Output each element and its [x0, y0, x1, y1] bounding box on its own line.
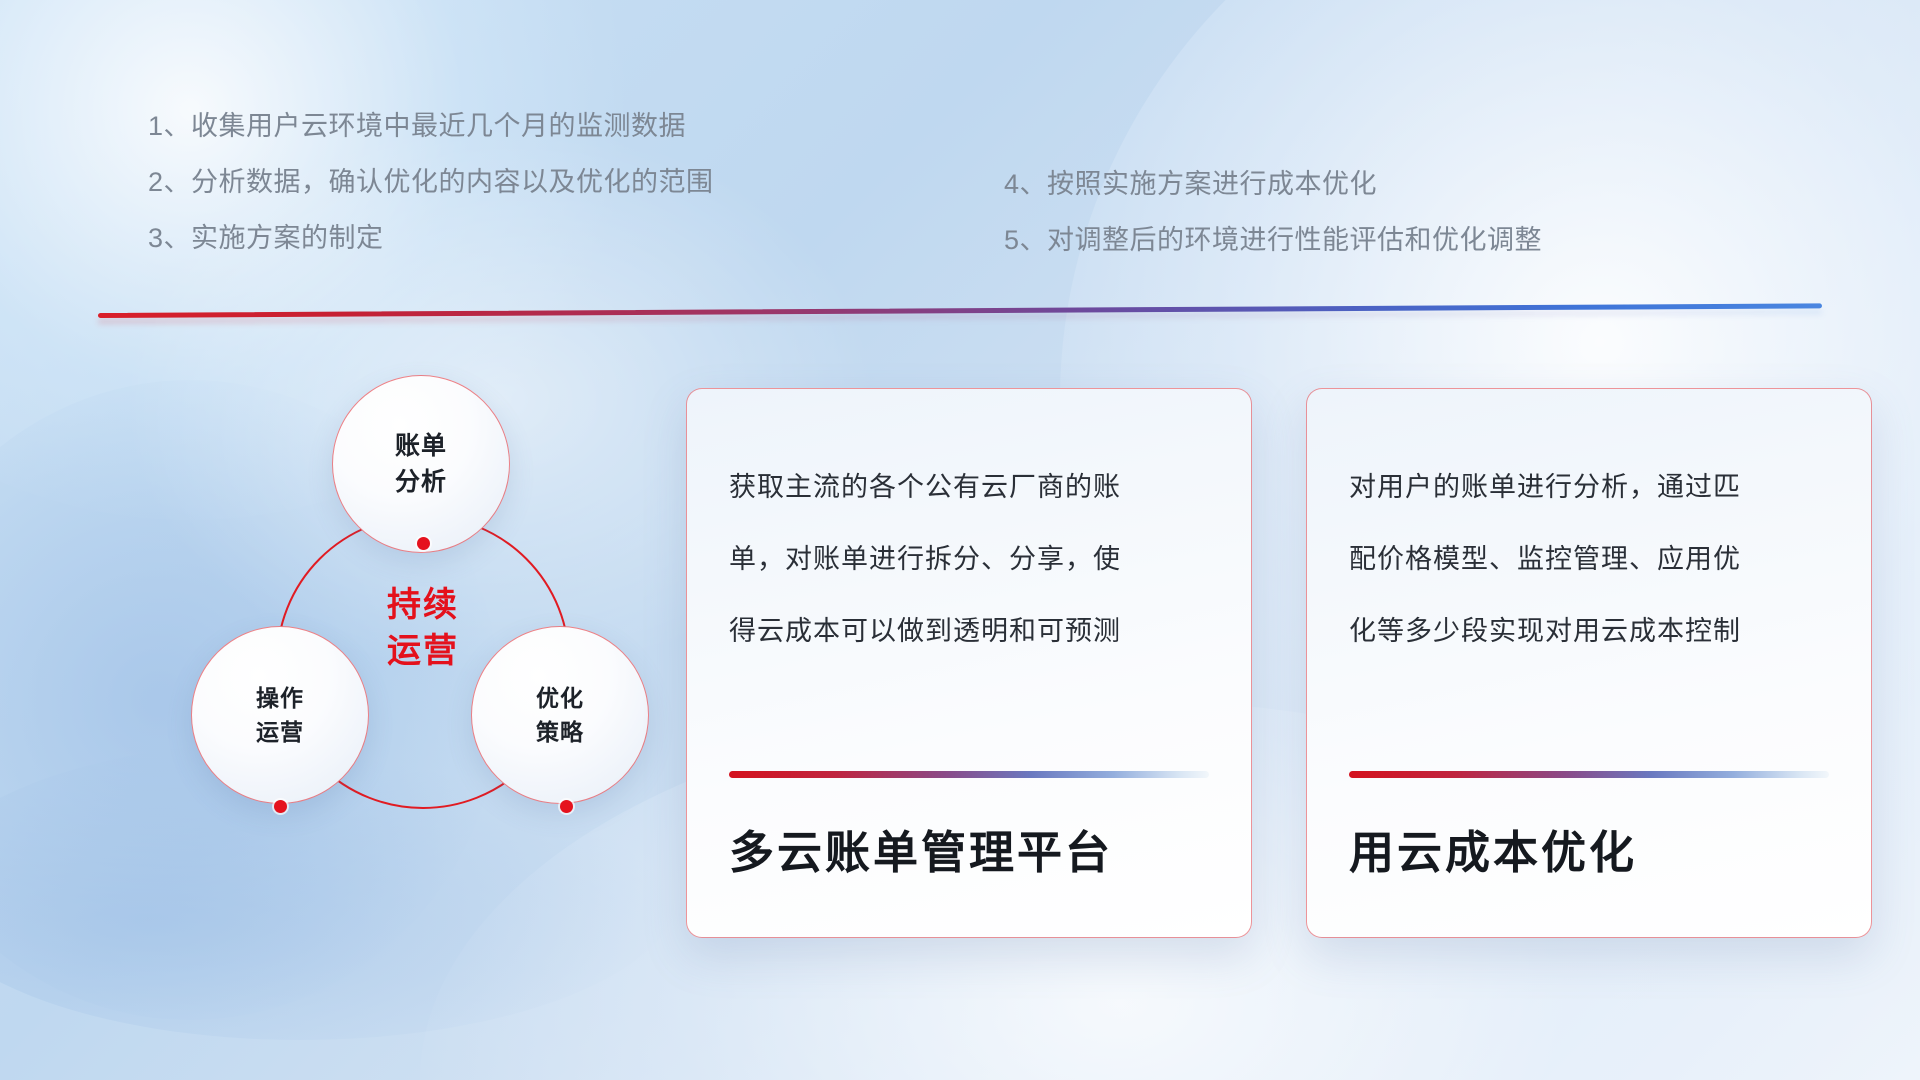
- steps-right-column: 4、按照实施方案进行成本优化 5、对调整后的环境进行性能评估和优化调整: [1004, 156, 1724, 268]
- venn-connector-dot-top: [417, 537, 430, 550]
- step-item-1: 1、收集用户云环境中最近几个月的监测数据: [148, 98, 848, 154]
- venn-node-right-line-2: 策略: [536, 715, 584, 749]
- venn-node-right-line-1: 优化: [536, 681, 584, 715]
- card-2-accent-rule: [1349, 771, 1829, 778]
- venn-node-top-line-1: 账单: [395, 428, 447, 464]
- venn-node-left-line-2: 运营: [256, 715, 304, 749]
- venn-node-operations[interactable]: 操作 运营: [191, 626, 369, 804]
- venn-node-left-line-1: 操作: [256, 681, 304, 715]
- slide-canvas: 1、收集用户云环境中最近几个月的监测数据 2、分析数据，确认优化的内容以及优化的…: [0, 0, 1920, 1080]
- venn-connector-dot-left: [274, 800, 287, 813]
- card-cloud-cost-optimization[interactable]: 对用户的账单进行分析，通过匹 配价格模型、监控管理、应用优 化等多少段实现对用云…: [1306, 388, 1872, 938]
- step-item-3: 3、实施方案的制定: [148, 210, 848, 266]
- venn-center-line-1: 持续: [276, 582, 570, 628]
- card-1-title: 多云账单管理平台: [729, 778, 1209, 937]
- card-2-body-line-2: 配价格模型、监控管理、应用优: [1349, 523, 1829, 595]
- card-2-body-line-1: 对用户的账单进行分析，通过匹: [1349, 451, 1829, 523]
- card-2-body-line-3: 化等多少段实现对用云成本控制: [1349, 595, 1829, 667]
- venn-connector-dot-right: [560, 800, 573, 813]
- card-2-title: 用云成本优化: [1349, 778, 1829, 937]
- card-1-body-line-3: 得云成本可以做到透明和可预测: [729, 595, 1209, 667]
- venn-node-billing-analysis[interactable]: 账单 分析: [332, 375, 510, 553]
- venn-diagram: 持续 运营 账单 分析 操作 运营 优化 策略: [86, 350, 626, 950]
- card-1-accent-rule: [729, 771, 1209, 778]
- steps-left-column: 1、收集用户云环境中最近几个月的监测数据 2、分析数据，确认优化的内容以及优化的…: [148, 98, 848, 266]
- step-item-4: 4、按照实施方案进行成本优化: [1004, 156, 1724, 212]
- step-item-2: 2、分析数据，确认优化的内容以及优化的范围: [148, 154, 848, 210]
- step-item-5: 5、对调整后的环境进行性能评估和优化调整: [1004, 212, 1724, 268]
- card-1-body-line-2: 单，对账单进行拆分、分享，使: [729, 523, 1209, 595]
- venn-node-top-line-2: 分析: [395, 464, 447, 500]
- card-multi-cloud-billing[interactable]: 获取主流的各个公有云厂商的账 单，对账单进行拆分、分享，使 得云成本可以做到透明…: [686, 388, 1252, 938]
- card-1-body-line-1: 获取主流的各个公有云厂商的账: [729, 451, 1209, 523]
- card-2-body: 对用户的账单进行分析，通过匹 配价格模型、监控管理、应用优 化等多少段实现对用云…: [1349, 451, 1829, 667]
- venn-node-optimization-strategy[interactable]: 优化 策略: [471, 626, 649, 804]
- card-1-body: 获取主流的各个公有云厂商的账 单，对账单进行拆分、分享，使 得云成本可以做到透明…: [729, 451, 1209, 667]
